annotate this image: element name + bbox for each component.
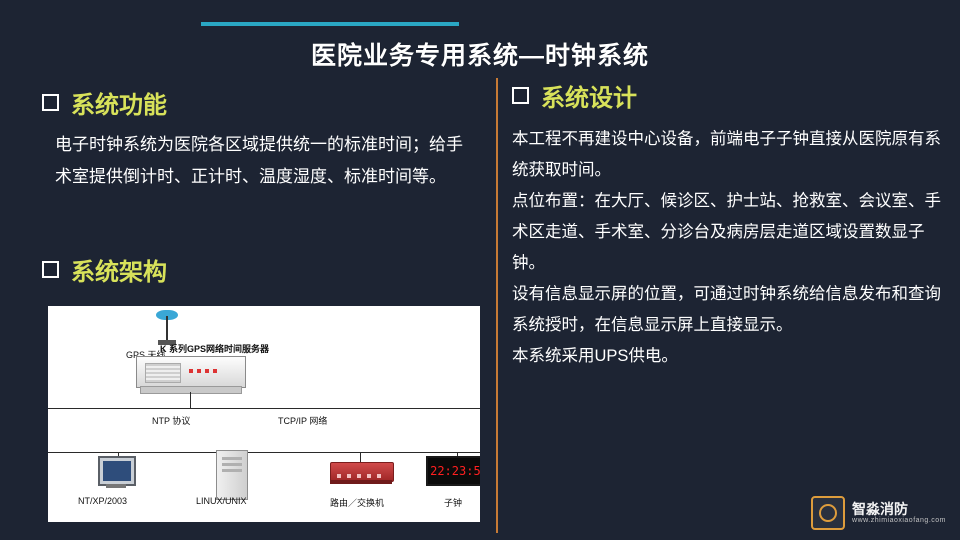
tower-slot-icon	[222, 457, 242, 460]
bullet-square-icon	[42, 261, 59, 278]
section-heading-design-label: 系统设计	[541, 78, 637, 113]
router-port-icon	[377, 474, 381, 478]
section-heading-function-label: 系统功能	[71, 85, 167, 120]
server-led-icon	[213, 369, 217, 373]
monitor-base-icon	[106, 484, 126, 488]
section-heading-design: 系统设计	[512, 78, 637, 113]
page-title: 医院业务专用系统—时钟系统	[0, 36, 960, 72]
bullet-square-icon	[42, 94, 59, 111]
tower-slot-icon	[222, 469, 242, 472]
bullet-square-icon	[512, 87, 529, 104]
router-switch-icon	[330, 462, 394, 482]
architecture-diagram-image: GPS 天线 K 系列GPS网络时间服务器 NTP 协议 TCP/IP 网络	[48, 306, 480, 522]
watermark: 智淼消防 www.zhimiaoxiaofang.com	[811, 496, 946, 530]
server-drop-line	[190, 392, 191, 408]
watermark-name: 智淼消防	[852, 502, 946, 517]
section-heading-architecture-label: 系统架构	[71, 252, 167, 287]
slide-root: 医院业务专用系统—时钟系统 系统功能 电子时钟系统为医院各区域提供统一的标准时间…	[0, 0, 960, 540]
router-shadow-icon	[330, 480, 392, 484]
section-heading-architecture: 系统架构	[42, 252, 167, 287]
gps-antenna-mast-icon	[166, 316, 168, 342]
router-port-icon	[367, 474, 371, 478]
time-server-icon	[136, 356, 246, 388]
design-paragraph-4: 本系统采用UPS供电。	[512, 341, 944, 372]
router-port-icon	[347, 474, 351, 478]
screen-icon	[103, 461, 131, 481]
watermark-text: 智淼消防 www.zhimiaoxiaofang.com	[852, 502, 946, 524]
server-led-icon	[189, 369, 193, 373]
design-body-text: 本工程不再建设中心设备，前端电子子钟直接从医院原有系统获取时间。 点位布置：在大…	[512, 124, 944, 372]
server-base-icon	[140, 386, 242, 394]
title-accent-rule	[201, 22, 459, 26]
bus-line-upper	[48, 408, 480, 409]
bus-line-lower	[48, 452, 480, 453]
node-label-3: 路由／交换机	[330, 496, 384, 509]
protocol-label: NTP 协议	[152, 414, 190, 427]
sub-clock-display: 22:23:58	[430, 464, 480, 478]
node-label-1: NT/XP/2003	[78, 496, 127, 506]
time-server-label: K 系列GPS网络时间服务器	[160, 342, 269, 355]
server-led-icon	[205, 369, 209, 373]
function-body-text: 电子时钟系统为医院各区域提供统一的标准时间；给手术室提供倒计时、正计时、温度湿度…	[55, 129, 475, 193]
watermark-url: www.zhimiaoxiaofang.com	[852, 517, 946, 524]
node-label-2: LINUX/UNIX	[196, 496, 247, 506]
node-label-4: 子钟	[444, 496, 462, 509]
architecture-diagram-inner: GPS 天线 K 系列GPS网络时间服务器 NTP 协议 TCP/IP 网络	[48, 306, 480, 522]
sub-clock-icon: 22:23:58	[426, 456, 480, 486]
workstation-icon	[98, 456, 142, 490]
column-divider	[496, 78, 498, 533]
design-paragraph-2: 点位布置：在大厅、候诊区、护士站、抢救室、会议室、手术区走道、手术室、分诊台及病…	[512, 186, 944, 279]
router-port-icon	[357, 474, 361, 478]
design-paragraph-3: 设有信息显示屏的位置，可通过时钟系统给信息发布和查询系统授时，在信息显示屏上直接…	[512, 279, 944, 341]
network-label: TCP/IP 网络	[278, 414, 327, 427]
server-vent-icon	[145, 363, 181, 383]
router-port-icon	[337, 474, 341, 478]
server-tower-icon	[216, 450, 248, 500]
monitor-icon	[98, 456, 136, 486]
tower-slot-icon	[222, 463, 242, 466]
section-heading-function: 系统功能	[42, 85, 167, 120]
server-led-icon	[197, 369, 201, 373]
design-paragraph-1: 本工程不再建设中心设备，前端电子子钟直接从医院原有系统获取时间。	[512, 124, 944, 186]
watermark-logo-icon	[811, 496, 845, 530]
